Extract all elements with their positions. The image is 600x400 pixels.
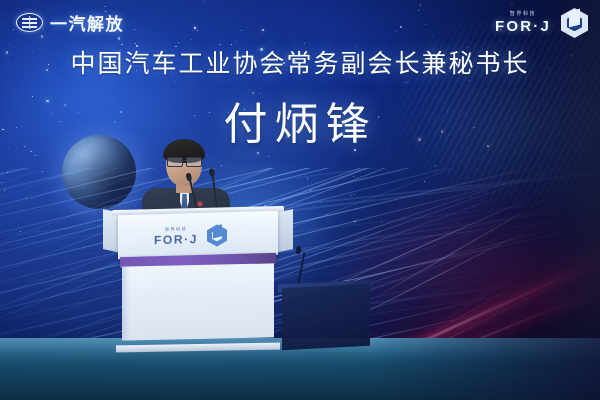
emblem-bar-3 bbox=[22, 26, 37, 28]
glasses-lens-left bbox=[167, 157, 183, 167]
podium-wordmark-block: 智界科技 FOR·J bbox=[154, 227, 198, 245]
faw-jiefang-logo: 一汽解放 bbox=[16, 10, 124, 35]
speaker-lapel-pin bbox=[198, 202, 202, 206]
forj-wordmark-block: 智界科技 FOR·J bbox=[495, 12, 551, 34]
podium: 智界科技 FOR·J bbox=[112, 208, 284, 348]
foreground-console bbox=[282, 284, 370, 351]
floor-shadow-right bbox=[370, 338, 600, 400]
presentation-slide: 智界科技 FOR·J 一汽解放 bbox=[0, 0, 600, 400]
forj-brand-sub-text: 智界科技 bbox=[510, 12, 536, 17]
glasses-icon bbox=[167, 157, 202, 165]
hexagon-cube-icon bbox=[207, 224, 227, 247]
podium-face: 智界科技 FOR·J bbox=[118, 211, 278, 259]
podium-body-edge bbox=[122, 266, 130, 340]
forj-logo: 智界科技 FOR·J bbox=[495, 8, 588, 38]
emblem-bar-2 bbox=[22, 22, 37, 24]
speaker-name: 付炳锋 bbox=[0, 88, 600, 152]
faw-circular-emblem-icon bbox=[16, 13, 43, 32]
podium-logo: 智界科技 FOR·J bbox=[154, 224, 227, 248]
podium-brand-wordmark: FOR·J bbox=[154, 233, 198, 246]
speaker-role-title: 中国汽车工业协会常务副会长兼秘书长 bbox=[0, 44, 600, 80]
hexagon-cube-icon bbox=[561, 8, 588, 38]
emblem-bar-1 bbox=[22, 18, 37, 20]
forj-brand-wordmark: FOR·J bbox=[495, 19, 551, 34]
glasses-lens-right bbox=[186, 157, 202, 167]
faw-brand-name: 一汽解放 bbox=[50, 10, 124, 35]
podium-body bbox=[122, 263, 274, 340]
